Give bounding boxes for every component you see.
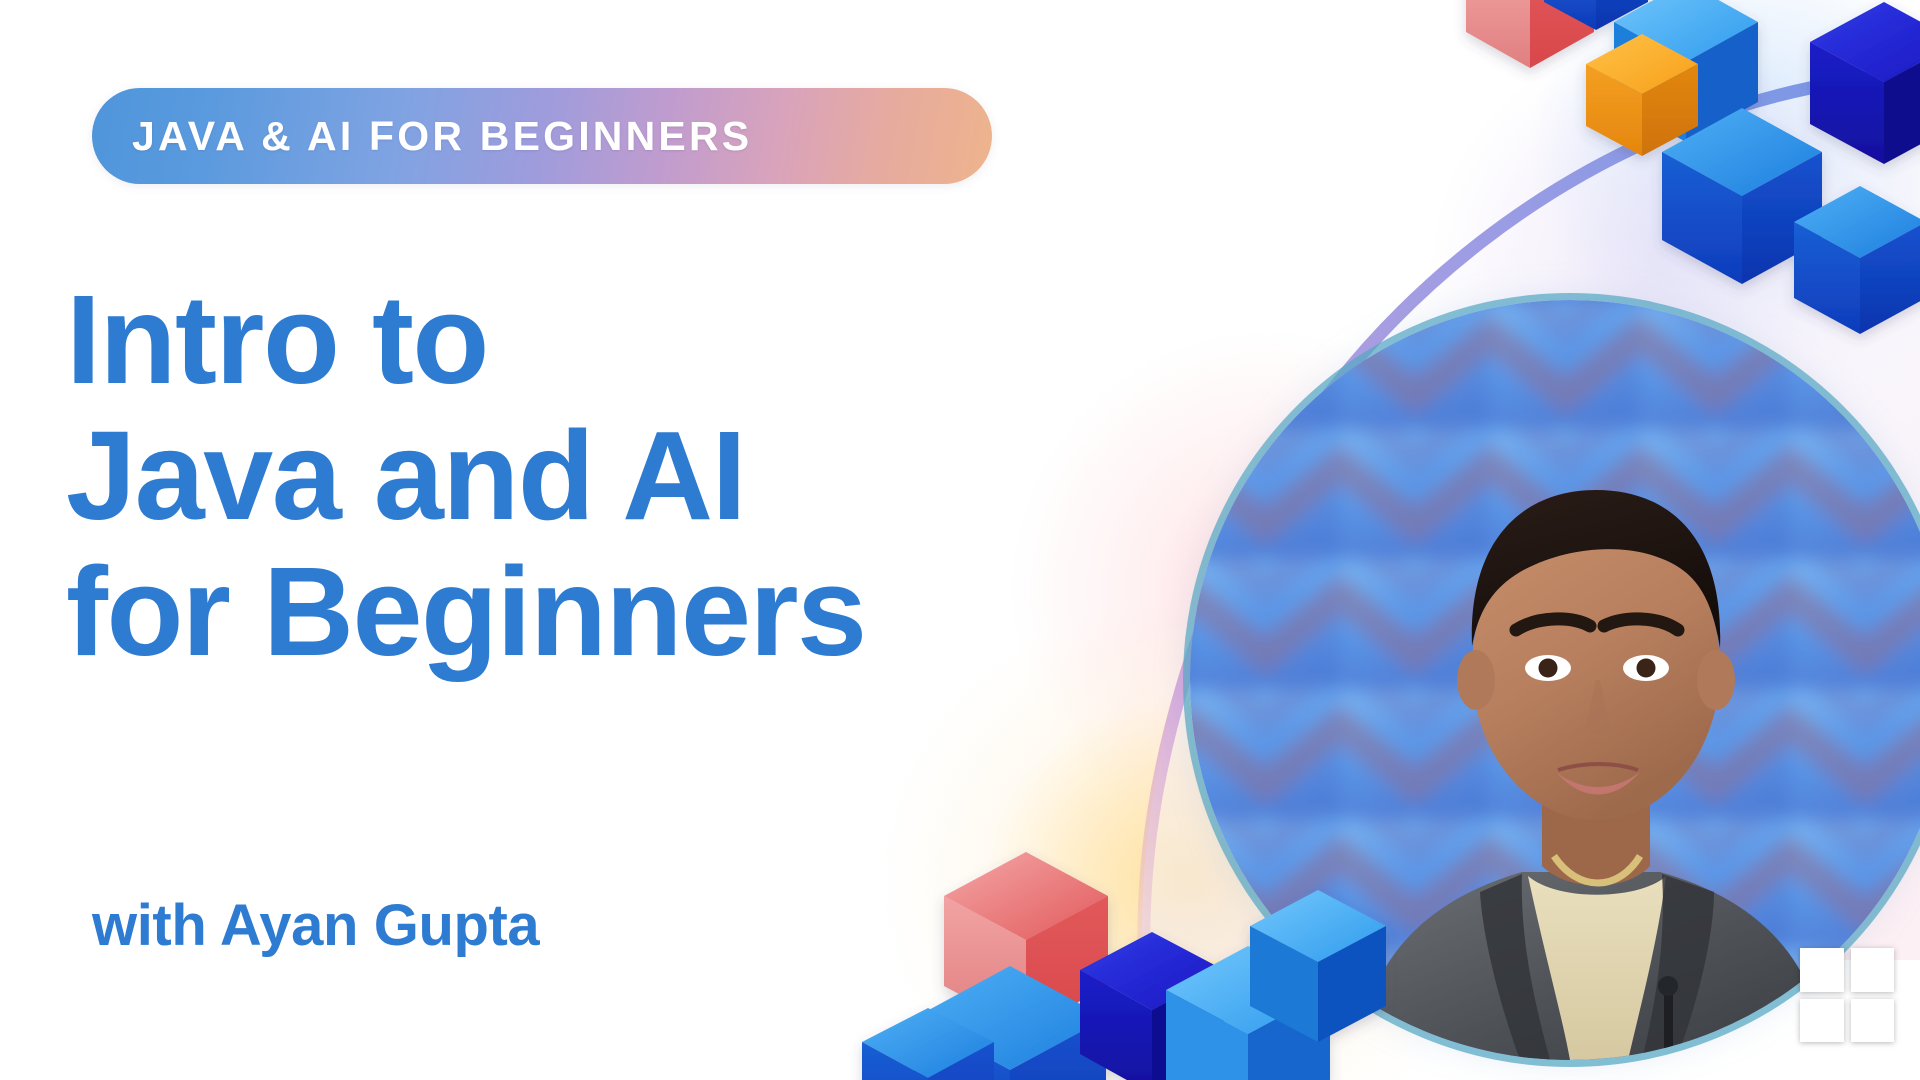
portrait-image — [1190, 300, 1920, 1060]
badge-label: JAVA & AI FOR BEGINNERS — [92, 113, 752, 160]
title-line-3: for Beginners — [66, 544, 1086, 680]
microsoft-logo — [1800, 948, 1894, 1042]
page-title: Intro to Java and AI for Beginners — [66, 272, 1086, 680]
course-category-badge: JAVA & AI FOR BEGINNERS — [92, 88, 992, 184]
presenter-byline: with Ayan Gupta — [92, 892, 539, 959]
logo-pane-bottom-right — [1851, 999, 1895, 1043]
presenter-portrait — [1190, 300, 1920, 1060]
title-line-2: Java and AI — [66, 408, 1086, 544]
title-line-1: Intro to — [66, 272, 1086, 408]
logo-pane-top-right — [1851, 948, 1895, 992]
logo-pane-top-left — [1800, 948, 1844, 992]
course-thumbnail-card: JAVA & AI FOR BEGINNERS Intro to Java an… — [0, 0, 1920, 1080]
logo-pane-bottom-left — [1800, 999, 1844, 1043]
